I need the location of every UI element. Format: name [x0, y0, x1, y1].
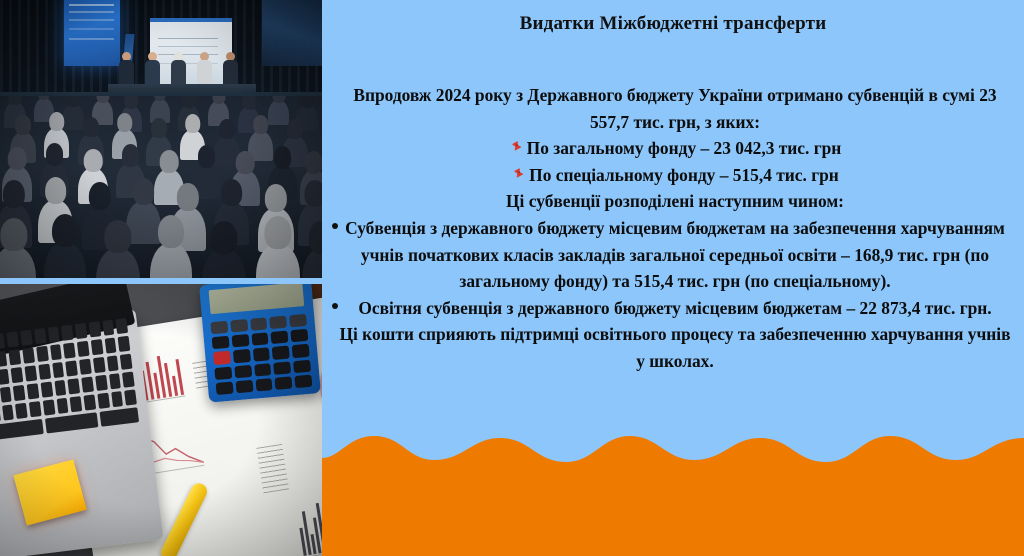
- laptop-keyboard: [0, 318, 141, 453]
- presentation-screen-side: [262, 0, 322, 66]
- audience-rows: [0, 96, 322, 278]
- closing-paragraph: Ці кошти сприяють підтримці освітнього п…: [334, 321, 1016, 374]
- pin-item-2: По спеціальному фонду – 515,4 тис. грн: [334, 162, 1016, 189]
- intro-paragraph: Впродовж 2024 року з Державного бюджету …: [334, 82, 1016, 135]
- bullet-item-2-text: Освітня субвенція з державного бюджету м…: [358, 298, 991, 318]
- calculator: [199, 284, 321, 403]
- pin-item-1: По загальному фонду – 23 042,3 тис. грн: [334, 135, 1016, 162]
- laptop: [0, 309, 164, 556]
- desk-calculator-charts-photo: [0, 284, 322, 556]
- pushpin-icon: [511, 168, 526, 183]
- calculator-keys: [210, 314, 312, 395]
- body-text-block: Впродовж 2024 року з Державного бюджету …: [334, 82, 1016, 375]
- bullet-dot-icon: [332, 303, 338, 309]
- bar-chart-grey: [295, 483, 322, 556]
- distribution-lead: Ці субвенції розподілені наступним чином…: [334, 188, 1016, 215]
- bullet-dot-icon: [332, 223, 338, 229]
- desk-scene: [0, 284, 322, 556]
- pin-item-2-text: По спеціальному фонду – 515,4 тис. грн: [529, 165, 839, 185]
- bullet-item-1: Субвенція з державного бюджету місцевим …: [334, 215, 1016, 295]
- bullet-item-2: Освітня субвенція з державного бюджету м…: [334, 295, 1016, 322]
- pin-item-1-text: По загальному фонду – 23 042,3 тис. грн: [527, 138, 842, 158]
- page-title: Видатки Міжбюджетні трансферти: [322, 13, 1024, 35]
- sticky-note: [13, 459, 86, 525]
- orange-wave-footer: [322, 428, 1024, 556]
- bullet-item-1-text: Субвенція з державного бюджету місцевим …: [345, 218, 1005, 291]
- slide-canvas: Видатки Міжбюджетні трансферти Впродовж …: [0, 0, 1024, 556]
- pushpin-icon: [509, 141, 524, 156]
- presentation-screen-blue: [64, 0, 120, 66]
- report-axis-labels: [256, 444, 289, 494]
- photo-column: [0, 0, 322, 556]
- conference-scene: [0, 0, 322, 278]
- calculator-display: [209, 284, 305, 314]
- conference-audience-photo: [0, 0, 322, 278]
- wave-shape: [322, 428, 1024, 556]
